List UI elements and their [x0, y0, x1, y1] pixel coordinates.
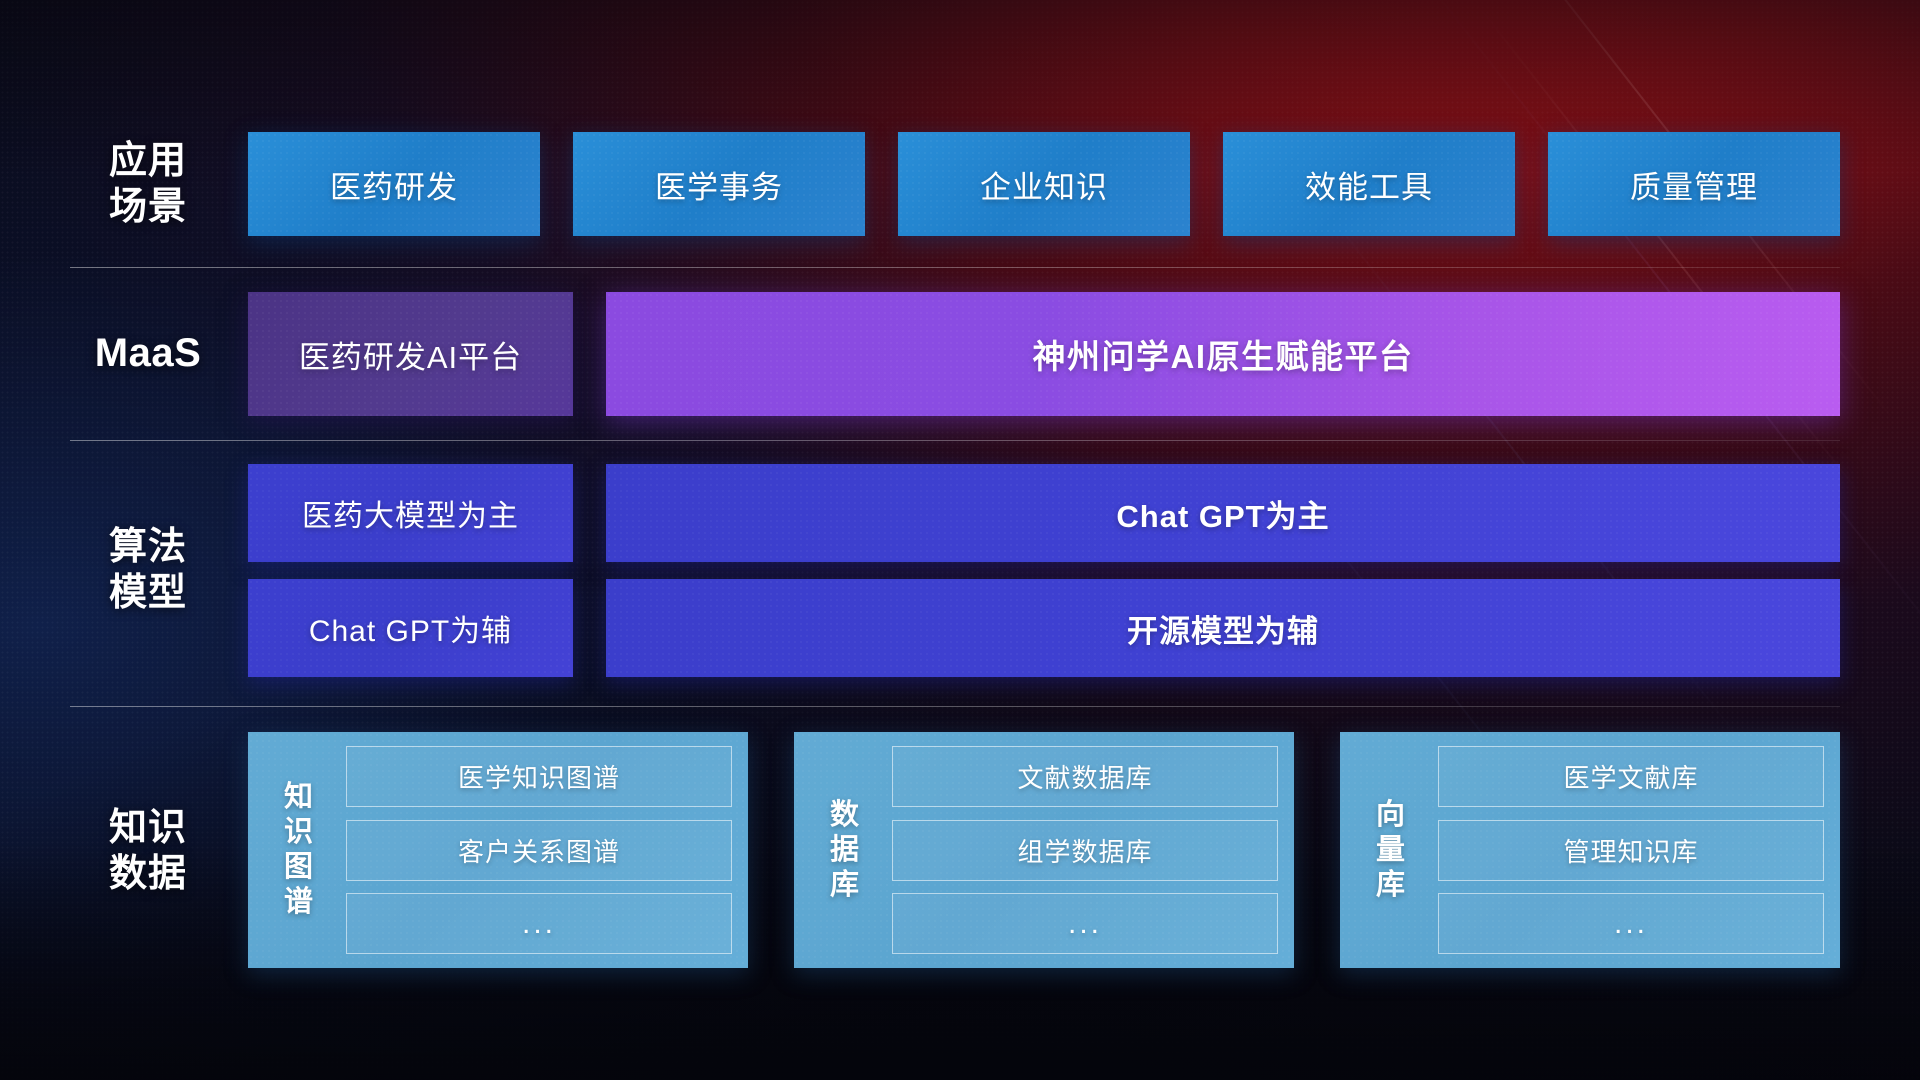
- app-card-efficiency-tools[interactable]: 效能工具: [1223, 132, 1515, 236]
- app-card-enterprise-knowledge[interactable]: 企业知识: [898, 132, 1190, 236]
- knowledge-item-medical-knowledge-graph[interactable]: 医学知识图谱: [346, 746, 732, 807]
- algorithm-row-secondary: Chat GPT为辅 开源模型为辅: [248, 579, 1840, 677]
- knowledge-card-items: 文献数据库 组学数据库 ...: [882, 746, 1278, 954]
- maas-card-label: 神州问学AI原生赋能平台: [1033, 330, 1414, 378]
- knowledge-item-medical-literature-store[interactable]: 医学文献库: [1438, 746, 1824, 807]
- knowledge-card-side-label: 数据库: [808, 746, 882, 954]
- maas-card-shenzhou-wenxue-platform[interactable]: 神州问学AI原生赋能平台: [606, 292, 1840, 416]
- app-card-quality-management[interactable]: 质量管理: [1548, 132, 1840, 236]
- knowledge-card-database[interactable]: 数据库 文献数据库 组学数据库 ...: [794, 732, 1294, 968]
- diagram-content: 应用场景 MaaS 算法模型 知识数据 医药研发 医学事务 企业知识 效能工具 …: [0, 0, 1920, 1080]
- algo-card-label: Chat GPT为辅: [309, 606, 512, 650]
- knowledge-card-items: 医学文献库 管理知识库 ...: [1428, 746, 1824, 954]
- algo-card-medicine-large-model-primary[interactable]: 医药大模型为主: [248, 464, 573, 562]
- knowledge-card-vector-store[interactable]: 向量库 医学文献库 管理知识库 ...: [1340, 732, 1840, 968]
- app-card-medical-affairs[interactable]: 医学事务: [573, 132, 865, 236]
- tier-label-application-scenarios: 应用场景: [78, 138, 218, 230]
- knowledge-data-row: 知识图谱 医学知识图谱 客户关系图谱 ... 数据库 文献数据库 组学数据库 .…: [248, 732, 1840, 968]
- knowledge-card-items: 医学知识图谱 客户关系图谱 ...: [336, 746, 732, 954]
- algo-card-opensource-secondary[interactable]: 开源模型为辅: [606, 579, 1840, 677]
- knowledge-item-management-knowledge-store[interactable]: 管理知识库: [1438, 820, 1824, 881]
- knowledge-item-customer-relation-graph[interactable]: 客户关系图谱: [346, 820, 732, 881]
- algorithm-row-primary: 医药大模型为主 Chat GPT为主: [248, 464, 1840, 562]
- knowledge-card-knowledge-graph[interactable]: 知识图谱 医学知识图谱 客户关系图谱 ...: [248, 732, 748, 968]
- algorithm-models-wrap: 医药大模型为主 Chat GPT为主 Chat GPT为辅 开源模型为辅: [248, 464, 1840, 677]
- tier-label-maas: MaaS: [78, 330, 218, 376]
- knowledge-item-omics-database[interactable]: 组学数据库: [892, 820, 1278, 881]
- maas-card-label: 医药研发AI平台: [299, 332, 522, 377]
- app-card-label: 效能工具: [1305, 162, 1433, 207]
- knowledge-card-side-label: 知识图谱: [262, 746, 336, 954]
- maas-card-medicine-rd-ai-platform[interactable]: 医药研发AI平台: [248, 292, 573, 416]
- tier-label-knowledge-data: 知识数据: [78, 805, 218, 897]
- maas-row: 医药研发AI平台 神州问学AI原生赋能平台: [248, 292, 1840, 416]
- knowledge-item-more[interactable]: ...: [892, 893, 1278, 954]
- algo-card-label: 医药大模型为主: [302, 491, 519, 535]
- tier-separator-3: [70, 706, 1840, 707]
- knowledge-item-more[interactable]: ...: [346, 893, 732, 954]
- architecture-diagram: 应用场景 MaaS 算法模型 知识数据 医药研发 医学事务 企业知识 效能工具 …: [0, 0, 1920, 1080]
- tier-separator-2: [70, 440, 1840, 441]
- app-card-label: 医学事务: [655, 162, 783, 207]
- knowledge-item-more[interactable]: ...: [1438, 893, 1824, 954]
- algo-card-chatgpt-secondary[interactable]: Chat GPT为辅: [248, 579, 573, 677]
- algo-card-label: Chat GPT为主: [1116, 491, 1329, 536]
- knowledge-item-literature-database[interactable]: 文献数据库: [892, 746, 1278, 807]
- app-card-label: 医药研发: [330, 162, 458, 207]
- algo-card-label: 开源模型为辅: [1127, 606, 1319, 651]
- app-card-label: 质量管理: [1630, 162, 1758, 207]
- algo-card-chatgpt-primary[interactable]: Chat GPT为主: [606, 464, 1840, 562]
- application-scenarios-row: 医药研发 医学事务 企业知识 效能工具 质量管理: [248, 132, 1840, 236]
- app-card-medicine-rd[interactable]: 医药研发: [248, 132, 540, 236]
- app-card-label: 企业知识: [980, 162, 1108, 207]
- tier-label-algorithm-models: 算法模型: [78, 524, 218, 616]
- tier-separator-1: [70, 267, 1840, 268]
- knowledge-card-side-label: 向量库: [1354, 746, 1428, 954]
